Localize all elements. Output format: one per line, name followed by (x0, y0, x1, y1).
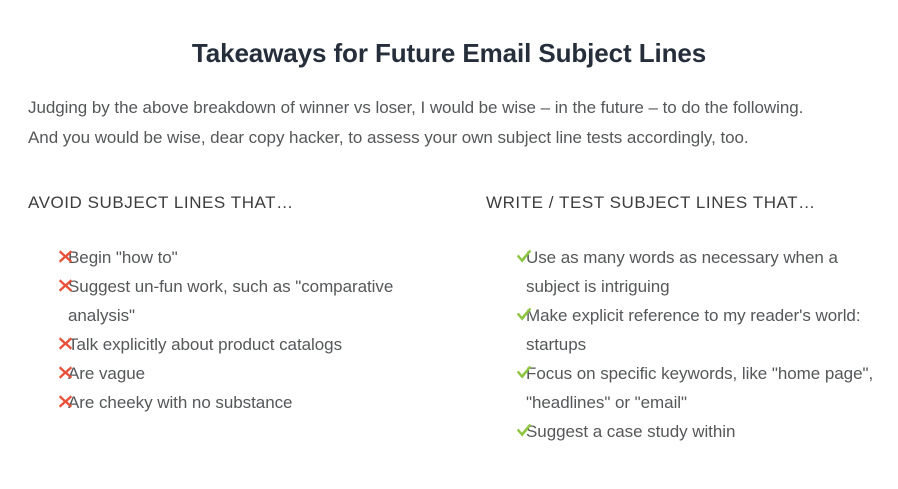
list-item: Use as many words as necessary when a su… (486, 243, 896, 301)
list-item-label: Suggest un-fun work, such as "comparativ… (68, 277, 393, 325)
avoid-list: Begin "how to"Suggest un-fun work, such … (28, 243, 457, 417)
list-item-label: Suggest a case study within (526, 422, 735, 441)
takeaways-page: Takeaways for Future Email Subject Lines… (0, 0, 898, 489)
intro-paragraph: Judging by the above breakdown of winner… (28, 93, 828, 152)
list-item: Suggest a case study within (486, 417, 896, 446)
cross-icon (58, 388, 74, 417)
list-item-label: Are cheeky with no substance (68, 393, 292, 412)
list-item: Are vague (28, 359, 457, 388)
cross-icon (58, 359, 74, 388)
page-title: Takeaways for Future Email Subject Lines (0, 37, 898, 69)
check-icon (516, 359, 532, 388)
write-test-list: Use as many words as necessary when a su… (486, 243, 898, 446)
list-item: Suggest un-fun work, such as "comparativ… (28, 272, 457, 330)
avoid-column: AVOID SUBJECT LINES THAT… Begin "how to"… (0, 192, 457, 417)
write-test-column: WRITE / TEST SUBJECT LINES THAT… Use as … (457, 192, 898, 446)
check-icon (516, 301, 532, 330)
check-icon (516, 417, 532, 446)
list-item-label: Make explicit reference to my reader's w… (526, 306, 861, 354)
list-item: Focus on specific keywords, like "home p… (486, 359, 896, 417)
list-item-label: Use as many words as necessary when a su… (526, 248, 838, 296)
cross-icon (58, 243, 74, 272)
cross-icon (58, 330, 74, 359)
cross-icon (58, 272, 74, 301)
list-item: Make explicit reference to my reader's w… (486, 301, 896, 359)
takeaways-columns: AVOID SUBJECT LINES THAT… Begin "how to"… (0, 192, 898, 446)
list-item-label: Talk explicitly about product catalogs (68, 335, 342, 354)
avoid-column-heading: AVOID SUBJECT LINES THAT… (28, 192, 457, 214)
check-icon (516, 243, 532, 272)
list-item: Talk explicitly about product catalogs (28, 330, 457, 359)
list-item-label: Are vague (68, 364, 145, 383)
write-test-column-heading: WRITE / TEST SUBJECT LINES THAT… (486, 192, 898, 214)
list-item-label: Begin "how to" (68, 248, 178, 267)
list-item: Begin "how to" (28, 243, 457, 272)
list-item-label: Focus on specific keywords, like "home p… (526, 364, 873, 412)
list-item: Are cheeky with no substance (28, 388, 457, 417)
